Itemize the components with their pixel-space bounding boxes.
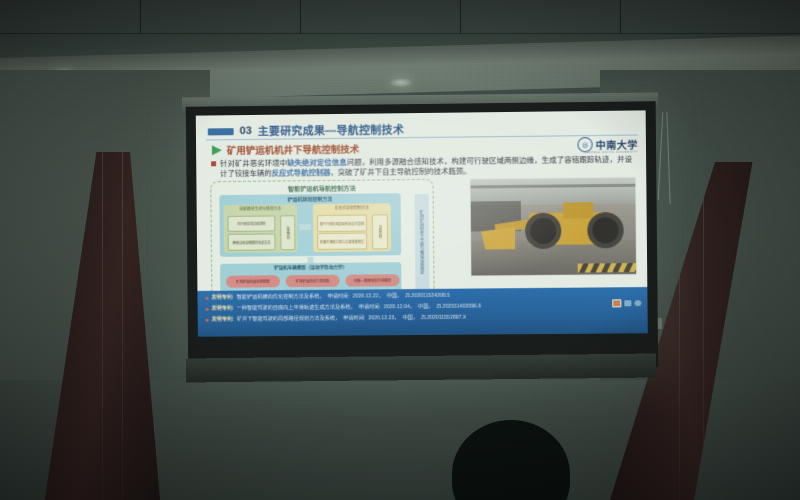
ceiling-downlight-center — [390, 78, 412, 87]
photo-roof-beam — [471, 184, 636, 189]
patent-number-1: ZL202011402096.6 — [436, 303, 481, 310]
patent-datelabel-0: 申请时间: — [327, 294, 349, 301]
patent-row-1: 发明专利: 一种智能驾驶的自底向上平滑轨迹生成方法及系统， 申请时间: 2020… — [206, 303, 482, 312]
lhd-loader-photo — [469, 177, 637, 277]
patent-datelabel-2: 申请时间: — [343, 315, 365, 322]
patent-country-1: 中国， — [418, 304, 434, 311]
patent-number-2: ZL202011557897.X — [421, 315, 466, 322]
diagram-left-group-header: 局部路径生成与规划方法 — [223, 206, 297, 212]
bullet-square-icon — [211, 161, 216, 166]
diagram-left-side-tab: 轨迹规划 — [280, 215, 295, 250]
diagram-right-item-1: 铰接车辆航向角与位姿误差修正 — [317, 233, 367, 250]
diagram-left-item-1: 两侧边缘容错跟踪轨迹生成 — [228, 233, 276, 250]
slide-body-paragraph: 针对矿井恶劣环境中缺失绝对定位信息问题，利用多源融合感知技术，构建可行驶区域两侧… — [220, 155, 632, 179]
diagram-right-group: 反应式导航控制方法 基于行驶区域边缘的反应式控制 铰接车辆航向角与位姿误差修正 … — [313, 203, 391, 252]
title-accent-bar — [208, 128, 234, 135]
diagram-right-item-0: 基于行驶区域边缘的反应式控制 — [317, 215, 367, 232]
diagram-model-item-2: 轮胎—路面相互作用模型 — [345, 274, 399, 286]
conference-room-scene: 03 主要研究成果—导航控制技术 ◎ 中南大学 CENTRAL SOUTH UN… — [0, 0, 800, 500]
slide-section-number: 03 — [240, 125, 252, 137]
patent-country-2: 中国， — [402, 315, 418, 322]
diagram-model-item-1: 矿用铲运机动力学模型 — [286, 275, 340, 287]
slide-subtitle: 矿用铲运机机井下导航控制技术 — [212, 142, 359, 158]
powerpoint-view-controls[interactable] — [612, 299, 641, 307]
patent-date-2: 2020.12.23， — [368, 315, 399, 322]
patent-footer-band: 发明专利: 智能铲运机横向优化控制方法及系统， 申请时间: 2020.12.22… — [197, 287, 647, 337]
slide-title-text: 主要研究成果—导航控制技术 — [258, 121, 405, 139]
diagram-right-group-header: 反应式导航控制方法 — [313, 205, 391, 211]
photo-loader-cab — [563, 202, 593, 218]
diagram-model-item-0: 矿用铲运机运动学模型 — [226, 275, 280, 287]
diagram-right-side-tab: 导航控制 — [372, 214, 388, 249]
patent-date-1: 2020.12.04， — [384, 304, 415, 311]
photo-loader-front-wheel — [525, 213, 561, 249]
projection-screen: 03 主要研究成果—导航控制技术 ◎ 中南大学 CENTRAL SOUTH UN… — [186, 101, 658, 371]
body-seg-4: ，突破了矿井下自主导航控制的技术瓶颈。 — [330, 166, 470, 177]
patent-label-1: 发明专利: — [211, 306, 233, 313]
patent-title-0: 智能铲运机横向优化控制方法及系统， — [237, 294, 325, 302]
patent-row-2: 发明专利: 矿井下智能驾驶的局部路径规划方法及系统， 申请时间: 2020.12… — [206, 315, 467, 324]
diagram-bottom-title: 铲运机车辆模型（运动学及动力学） — [220, 264, 401, 272]
normal-view-icon[interactable] — [612, 299, 621, 307]
diagram-left-group: 局部路径生成与规划方法 可行驶区域边缘提取 两侧边缘容错跟踪轨迹生成 轨迹规划 — [223, 204, 297, 253]
patent-row-0: 发明专利: 智能铲运机横向优化控制方法及系统， 申请时间: 2020.12.22… — [205, 293, 449, 302]
patent-bullet-icon — [205, 297, 208, 300]
patent-number-0: ZL202011524208.5 — [405, 293, 450, 300]
screen-bottom-weight-bar — [186, 354, 656, 383]
diagram-left-item-0: 可行驶区域边缘提取 — [227, 215, 275, 231]
subtitle-text: 矿用铲运机机井下导航控制技术 — [227, 142, 360, 157]
body-seg-0: 针对矿井恶劣环境中 — [220, 158, 287, 168]
powerpoint-slide: 03 主要研究成果—导航控制技术 ◎ 中南大学 CENTRAL SOUTH UN… — [196, 110, 648, 336]
university-name-en: CENTRAL SOUTH UNIVERSITY — [584, 150, 638, 155]
patent-bullet-icon — [206, 308, 209, 311]
patent-country-0: 中国， — [387, 293, 403, 300]
photo-hazard-stripe — [578, 263, 636, 273]
body-seg-1: 缺失绝对定位信息 — [287, 158, 347, 168]
play-triangle-icon — [212, 145, 222, 155]
patent-title-2: 矿井下智能驾驶的局部路径规划方法及系统， — [237, 316, 340, 324]
navigation-control-flowchart: 智能铲运机导航控制方法 铲运机规划控制方法 局部路径生成与规划方法 可行驶区域边… — [210, 179, 434, 301]
diagram-arrow-left-to-right — [299, 224, 311, 230]
photo-loader-rear-wheel — [587, 212, 624, 248]
body-seg-3: 反应式导航控制器 — [272, 168, 331, 178]
reading-view-icon[interactable] — [634, 300, 641, 306]
diagram-main-block: 铲运机规划控制方法 局部路径生成与规划方法 可行驶区域边缘提取 两侧边缘容错跟踪… — [219, 193, 401, 257]
diagram-side-label: 矿用铲运机井下导航与集成试验验证 — [415, 194, 430, 290]
patent-bullet-icon — [206, 319, 209, 322]
patent-title-1: 一种智能驾驶的自底向上平滑轨迹生成方法及系统， — [237, 305, 356, 313]
patent-date-0: 2020.12.22， — [353, 293, 384, 300]
patent-label-0: 发明专利: — [211, 295, 233, 302]
patent-label-2: 发明专利: — [212, 317, 234, 324]
diagram-title: 智能铲运机导航控制方法 — [211, 183, 432, 194]
patent-datelabel-1: 申请时间: — [359, 304, 381, 311]
slide-sorter-icon[interactable] — [624, 300, 631, 306]
